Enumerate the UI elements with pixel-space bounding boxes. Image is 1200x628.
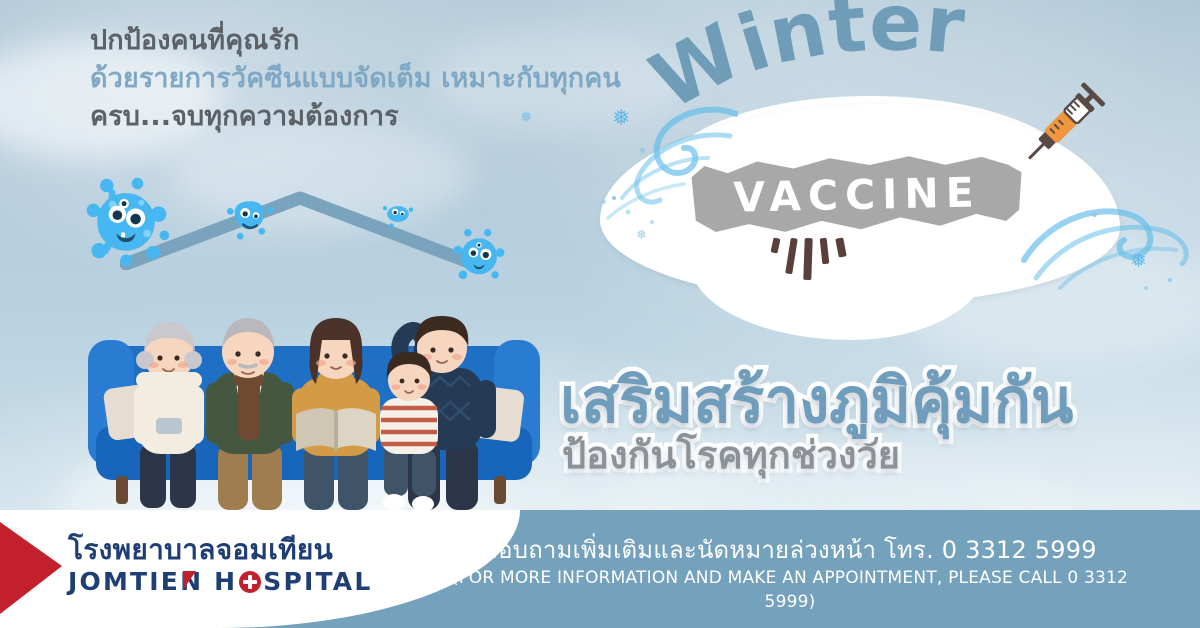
contact-block: สอบถามเพิ่มเติมและนัดหมายล่วงหน้า โทร. 0… bbox=[440, 534, 1140, 614]
headline-block: ปกป้องคนที่คุณรัก ด้วยรายการวัคซีนแบบจัด… bbox=[90, 22, 690, 136]
vaccine-banner: VACCINE bbox=[692, 156, 1022, 234]
contact-text-en: (FOR MORE INFORMATION AND MAKE AN APPOIN… bbox=[440, 566, 1140, 614]
family-illustration bbox=[78, 268, 548, 530]
tick-mark bbox=[803, 238, 812, 280]
headline-line-3: ครบ...จบทุกความต้องการ bbox=[90, 98, 690, 136]
winter-wordmark: Winter bbox=[662, 16, 1042, 146]
hospital-name-th: โรงพยาบาลจอมเทียน bbox=[68, 533, 372, 567]
headline-line-2: ด้วยรายการวัคซีนแบบจัดเต็ม เหมาะกับทุกคน bbox=[90, 60, 690, 98]
tick-mark bbox=[785, 238, 798, 275]
decor-dot bbox=[1092, 212, 1097, 217]
footer-bar: โรงพยาบาลจอมเทียน JOMTIEN HSPITAL สอบถาม… bbox=[0, 510, 1200, 628]
logo-en-part-a: JOMTIE bbox=[68, 567, 180, 597]
logo-red-n: N H bbox=[180, 567, 237, 597]
promo-banner: ปกป้องคนที่คุณรัก ด้วยรายการวัคซีนแบบจัด… bbox=[0, 0, 1200, 628]
germ-medium-icon bbox=[222, 192, 280, 244]
germ-small-icon bbox=[380, 198, 416, 230]
decor-dot bbox=[612, 196, 616, 200]
hospital-logo[interactable]: โรงพยาบาลจอมเทียน JOMTIEN HSPITAL bbox=[68, 533, 372, 597]
tick-marks bbox=[772, 238, 845, 280]
hospital-name-en: JOMTIEN HSPITAL bbox=[68, 567, 372, 597]
tick-mark bbox=[771, 237, 781, 253]
logo-en-part-c: SPITAL bbox=[263, 567, 372, 597]
medical-cross-icon bbox=[239, 571, 261, 593]
red-triangle-accent bbox=[0, 522, 62, 614]
main-headline: เสริมสร้างภูมิคุ้มกัน bbox=[560, 352, 1073, 450]
house-roof-outline bbox=[120, 190, 480, 270]
vaccine-text: VACCINE bbox=[691, 153, 1023, 238]
headline-line-1: ปกป้องคนที่คุณรัก bbox=[90, 22, 690, 60]
contact-text-th: สอบถามเพิ่มเติมและนัดหมายล่วงหน้า โทร. 0… bbox=[440, 534, 1140, 566]
snowflake-icon: ❅ bbox=[1130, 248, 1147, 272]
decor-dot bbox=[640, 148, 645, 153]
germ-large-icon bbox=[78, 172, 174, 268]
syringe-icon bbox=[1012, 82, 1112, 182]
tick-mark bbox=[820, 238, 830, 265]
